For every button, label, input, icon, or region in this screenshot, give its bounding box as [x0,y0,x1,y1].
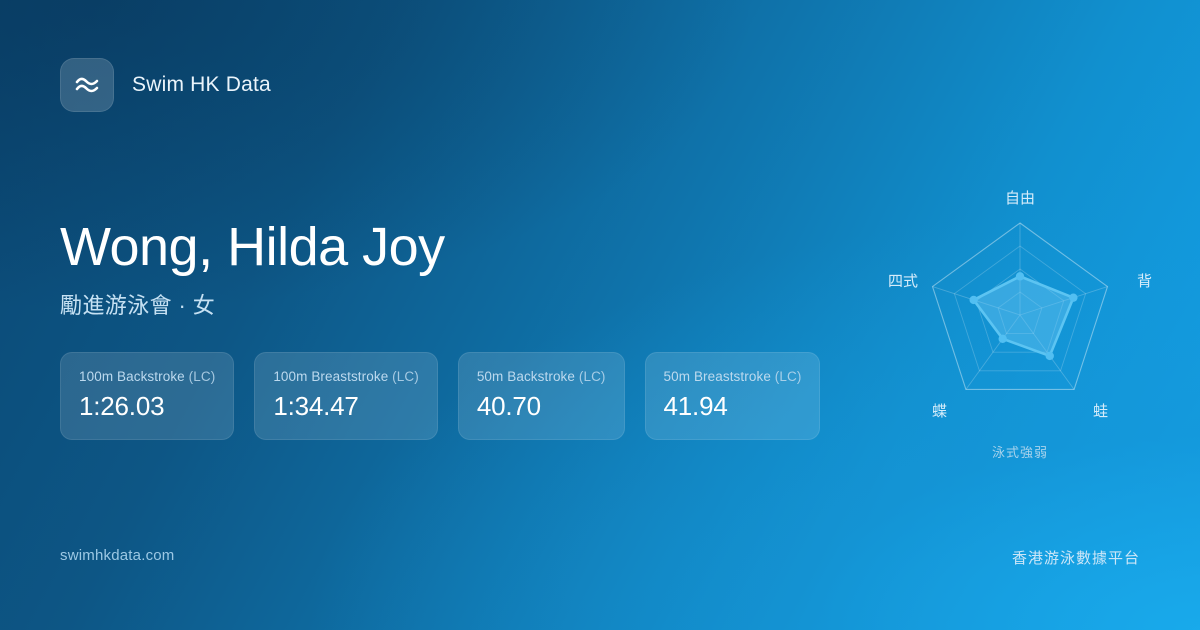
stat-card-label: 100m Backstroke (LC) [79,369,215,384]
stat-card: 50m Breaststroke (LC) 41.94 [645,352,821,440]
hero: Wong, Hilda Joy 勵進游泳會 · 女 [60,218,445,320]
stat-card: 50m Backstroke (LC) 40.70 [458,352,625,440]
wave-icon [60,58,114,112]
athlete-meta: 勵進游泳會 · 女 [60,288,445,320]
brand: Swim HK Data [60,58,271,112]
stat-card: 100m Breaststroke (LC) 1:34.47 [254,352,438,440]
stat-card-course: (LC) [189,369,216,384]
footer-tagline: 香港游泳數據平台 [1012,547,1140,568]
stat-card-course: (LC) [579,369,606,384]
stat-card-course: (LC) [392,369,419,384]
stat-card-event: 100m Backstroke [79,369,185,384]
stat-card-event: 50m Backstroke [477,369,575,384]
footer-site-url: swimhkdata.com [60,547,175,564]
page-title: Wong, Hilda Joy [60,218,445,276]
stat-card-course: (LC) [775,369,802,384]
radar-axis-label-fly: 蝶 [932,400,947,421]
stat-card-value: 41.94 [664,391,802,422]
brand-name: Swim HK Data [132,73,271,97]
radar-axis-label-im: 四式 [888,270,918,291]
stat-card-event: 50m Breaststroke [664,369,771,384]
stat-card-event: 100m Breaststroke [273,369,388,384]
radar-axis-label-back: 背 [1137,270,1152,291]
stat-card: 100m Backstroke (LC) 1:26.03 [60,352,234,440]
stat-card-label: 100m Breaststroke (LC) [273,369,419,384]
og-card: Swim HK Data Wong, Hilda Joy 勵進游泳會 · 女 1… [0,0,1200,630]
stat-card-value: 1:34.47 [273,391,419,422]
radar-chart-caption: 泳式強弱 [870,442,1170,461]
radar-axis-label-free: 自由 [870,187,1170,208]
radar-chart: 自由 背 蛙 蝶 四式 泳式強弱 [870,160,1170,470]
radar-axis-label-breast: 蛙 [1093,400,1108,421]
stat-card-list: 100m Backstroke (LC) 1:26.03 100m Breast… [60,352,820,440]
stat-card-value: 1:26.03 [79,391,215,422]
stat-card-value: 40.70 [477,391,606,422]
stat-card-label: 50m Backstroke (LC) [477,369,606,384]
stat-card-label: 50m Breaststroke (LC) [664,369,802,384]
